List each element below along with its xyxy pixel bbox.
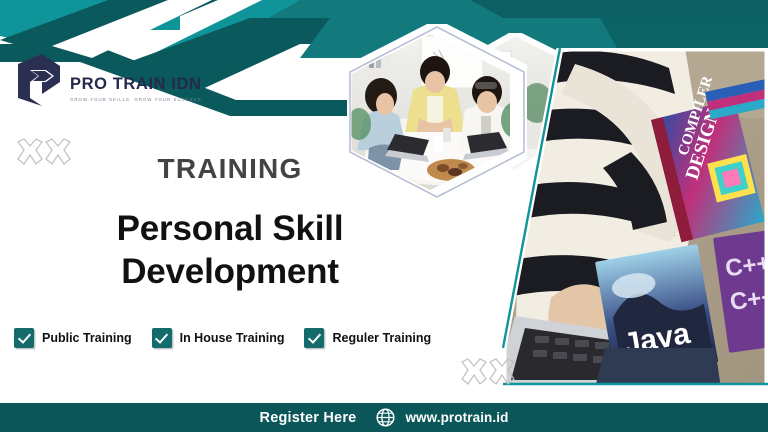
page-title: Personal Skill Development xyxy=(0,208,460,293)
training-option-reguler[interactable]: Reguler Training xyxy=(304,328,431,348)
checkbox-checked-icon[interactable] xyxy=(14,328,34,348)
pro-train-hex-arrow-logo-icon xyxy=(12,52,64,110)
training-promo-banner: COMPILER DESIGN Java C++ C++ xyxy=(0,0,768,432)
training-option-in-house[interactable]: In House Training xyxy=(152,328,285,348)
checkbox-checked-icon[interactable] xyxy=(152,328,172,348)
brand-name: PRO TRAIN IDN xyxy=(70,76,202,93)
globe-icon xyxy=(376,408,395,427)
title-line-2: Development xyxy=(0,251,460,294)
website-group[interactable]: www.protrain.id xyxy=(376,408,508,427)
x-cross-outline-icon xyxy=(458,358,520,386)
checkbox-checked-icon[interactable] xyxy=(304,328,324,348)
training-options-list: Public Training In House Training Regule… xyxy=(14,328,431,348)
brand-logo: PRO TRAIN IDN GROW YOUR SKILLS. GROW YOU… xyxy=(12,52,202,110)
brand-tagline: GROW YOUR SKILLS. GROW YOUR SUCCESS xyxy=(70,97,202,102)
svg-text:C++: C++ xyxy=(724,249,768,282)
register-here-label[interactable]: Register Here xyxy=(260,410,357,426)
title-line-1: Personal Skill xyxy=(0,208,460,251)
training-option-label: Public Training xyxy=(42,331,132,345)
training-option-public[interactable]: Public Training xyxy=(14,328,132,348)
logo-text-group: PRO TRAIN IDN GROW YOUR SKILLS. GROW YOU… xyxy=(70,60,202,102)
svg-text:C++: C++ xyxy=(728,283,768,316)
training-option-label: In House Training xyxy=(180,331,285,345)
training-option-label: Reguler Training xyxy=(332,331,431,345)
kicker-heading: TRAINING xyxy=(0,155,460,183)
website-url[interactable]: www.protrain.id xyxy=(405,410,508,425)
footer-bar: Register Here www.protrain.id xyxy=(0,403,768,432)
